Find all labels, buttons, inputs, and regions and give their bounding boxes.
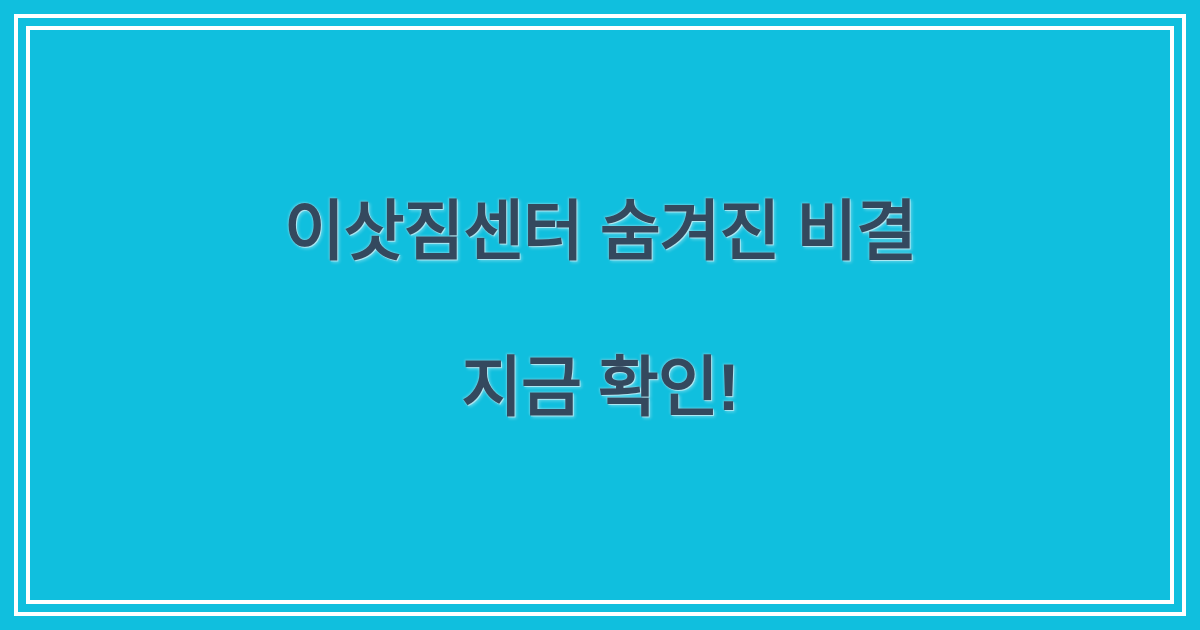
headline-line-1: 이삿짐센터 숨겨진 비결 (100, 193, 1100, 271)
promo-banner: 이삿짐센터 숨겨진 비결 지금 확인! (0, 0, 1200, 630)
banner-headline: 이삿짐센터 숨겨진 비결 지금 확인! (100, 115, 1100, 504)
headline-block: 이삿짐센터 숨겨진 비결 지금 확인! (100, 115, 1100, 514)
headline-line-2: 지금 확인! (100, 349, 1100, 427)
